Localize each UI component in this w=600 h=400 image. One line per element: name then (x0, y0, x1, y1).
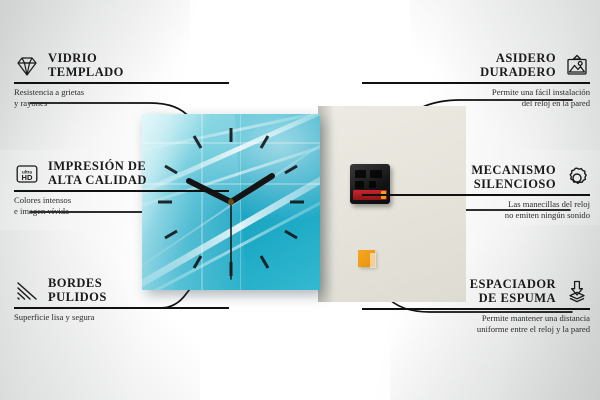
feature-bordes-pulidos: BORDES PULIDOS Superficie lisa y segura (14, 277, 229, 323)
gear-icon (564, 165, 590, 191)
feature-divider (14, 82, 229, 84)
feature-description: Permite una fácil instalación del reloj … (362, 87, 590, 110)
diagonal-lines-icon (14, 278, 40, 304)
infographic-canvas: VIDRIO TEMPLADO Resistencia a grietas y … (0, 0, 600, 400)
ultra-hd-icon: ultra HD (14, 161, 40, 187)
arrow-press-pad-icon (564, 279, 590, 305)
feature-desc-line2: uniforme entre el reloj y la pared (362, 324, 590, 336)
diamond-icon (14, 53, 40, 79)
feature-desc-line1: Colores intensos (14, 195, 229, 207)
feature-desc-line1: Las manecillas del reloj (362, 199, 590, 211)
feature-description: Superficie lisa y segura (14, 312, 229, 324)
feature-mecanismo-silencioso: MECANISMO SILENCIOSO Las manecillas del … (362, 164, 590, 222)
feature-divider (362, 194, 590, 196)
feature-divider (362, 308, 590, 310)
feature-desc-line1: Permite mantener una distancia (362, 313, 590, 325)
feature-desc-line2: y rayones (14, 98, 229, 110)
feature-title-line1: ESPACIADOR (470, 278, 556, 292)
feature-desc-line1: Superficie lisa y segura (14, 312, 229, 324)
feature-title-line2: DE ESPUMA (470, 292, 556, 306)
feature-divider (14, 307, 229, 309)
feature-asidero-duradero: ASIDERO DURADERO Permite una fácil insta… (362, 52, 590, 110)
feature-vidrio-templado: VIDRIO TEMPLADO Resistencia a grietas y … (14, 52, 229, 110)
feature-desc-line2: no emiten ningún sonido (362, 210, 590, 222)
svg-text:HD: HD (22, 173, 33, 182)
feature-title-line1: BORDES (48, 277, 107, 291)
feature-title-line2: ALTA CALIDAD (48, 174, 147, 188)
foam-spacer (358, 250, 375, 267)
feature-divider (14, 190, 229, 192)
feature-desc-line2: e imagen vívida (14, 206, 229, 218)
wall-shadow (318, 106, 334, 302)
feature-title-line2: DURADERO (480, 66, 556, 80)
feature-title-line1: ASIDERO (480, 52, 556, 66)
feature-description: Permite mantener una distancia uniforme … (362, 313, 590, 336)
feature-divider (362, 82, 590, 84)
feature-title-line1: IMPRESIÓN DE (48, 160, 147, 174)
feature-desc-line1: Permite una fácil instalación (362, 87, 590, 99)
feature-title-line1: MECANISMO (471, 164, 556, 178)
framed-picture-hanging-icon (564, 53, 590, 79)
feature-title-line2: SILENCIOSO (471, 178, 556, 192)
feature-title-line1: VIDRIO (48, 52, 124, 66)
feature-description: Resistencia a grietas y rayones (14, 87, 229, 110)
feature-title-line2: TEMPLADO (48, 66, 124, 80)
feature-espaciador-de-espuma: ESPACIADOR DE ESPUMA Permite mantener un… (362, 278, 590, 336)
feature-desc-line1: Resistencia a grietas (14, 87, 229, 99)
feature-title-line2: PULIDOS (48, 291, 107, 305)
feature-description: Las manecillas del reloj no emiten ningú… (362, 199, 590, 222)
feature-desc-line2: del reloj en la pared (362, 98, 590, 110)
feature-impresion-alta-calidad: ultra HD IMPRESIÓN DE ALTA CALIDAD Color… (14, 160, 229, 218)
feature-description: Colores intensos e imagen vívida (14, 195, 229, 218)
